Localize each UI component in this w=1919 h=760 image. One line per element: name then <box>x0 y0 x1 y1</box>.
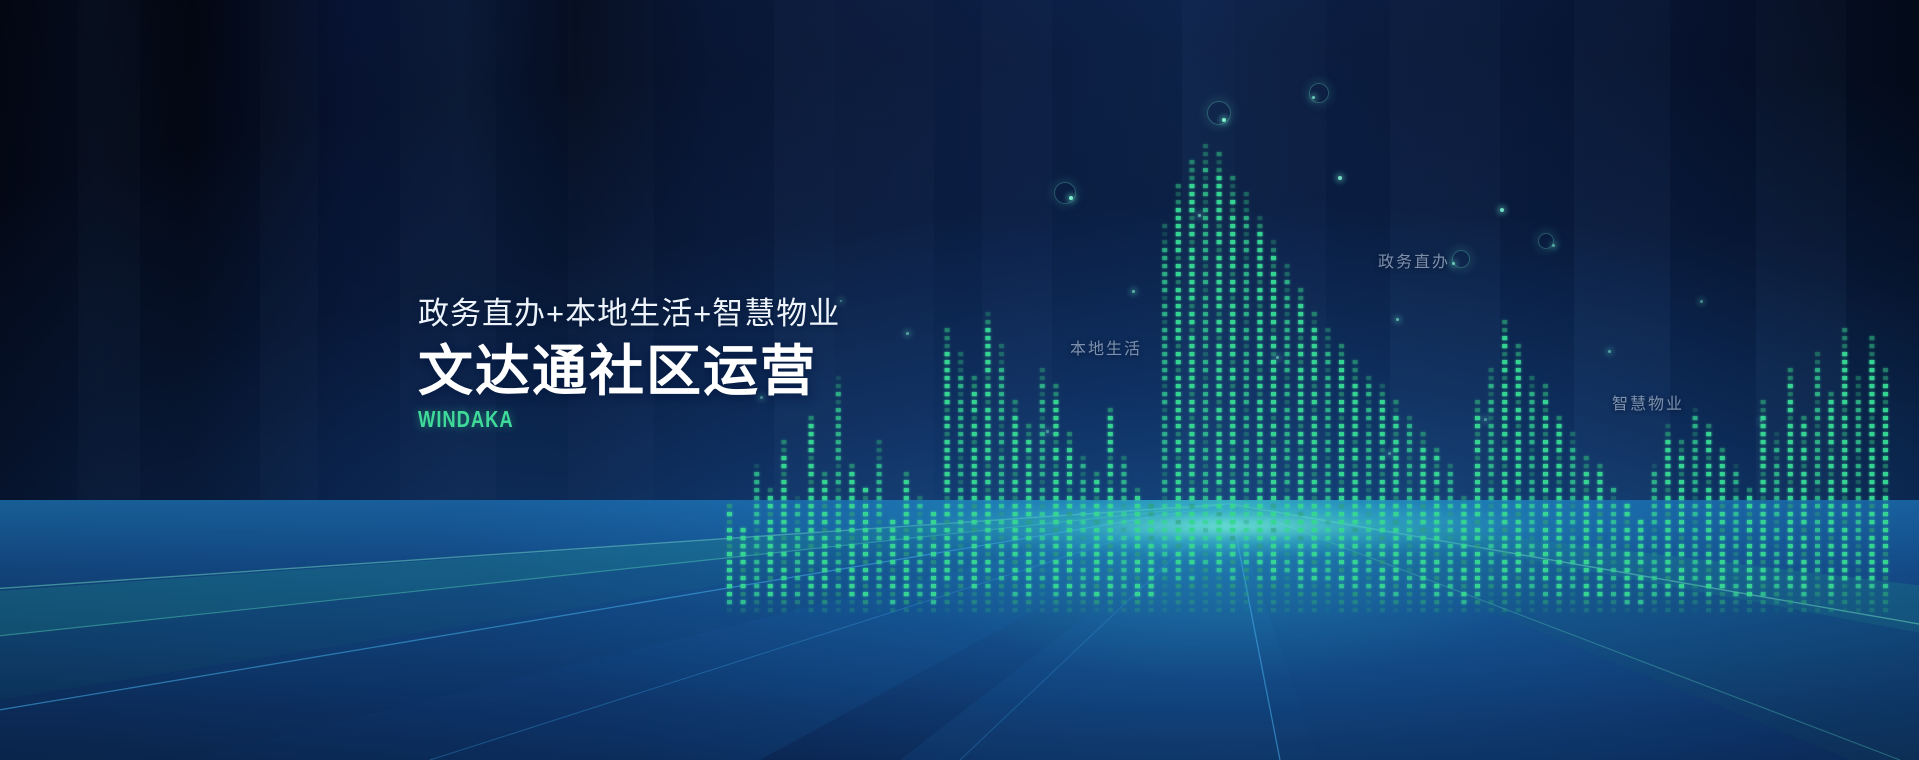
banner-subtitle: 政务直办+本地生活+智慧物业 <box>418 292 1038 336</box>
sparkle-dot <box>1484 418 1487 421</box>
sparkle-ring <box>1538 233 1554 249</box>
chart-label-2: 本地生活 <box>1070 340 1142 360</box>
perspective-ground <box>0 500 1919 760</box>
sparkle-dot <box>1276 356 1279 359</box>
ground-ray-lines <box>0 500 1919 760</box>
chart-label-3: 智慧物业 <box>1612 395 1684 415</box>
sparkle-dot <box>1198 214 1201 217</box>
sparkle-ring <box>1452 250 1470 268</box>
sparkle-ring <box>1309 83 1329 103</box>
sparkle-ring <box>1054 182 1076 204</box>
page-title: 文达通社区运营 <box>418 340 1038 402</box>
sparkle-dot <box>1500 208 1504 212</box>
sparkle-dot <box>1338 176 1342 180</box>
sparkle-dot <box>1388 452 1391 455</box>
sparkle-dot <box>1700 300 1703 303</box>
brand-wordmark: WINDAKA <box>418 406 914 432</box>
sparkle-ring <box>1207 101 1231 125</box>
headline-block: 政务直办+本地生活+智慧物业 文达通社区运营 WINDAKA <box>418 292 1038 432</box>
sparkle-dot <box>1608 350 1611 353</box>
banner-stage: 政务直办本地生活智慧物业 政务直办+本地生活+智慧物业 文达通社区运营 WIND… <box>0 0 1919 760</box>
chart-label-1: 政务直办 <box>1378 253 1450 273</box>
sparkle-dot <box>1046 430 1049 433</box>
